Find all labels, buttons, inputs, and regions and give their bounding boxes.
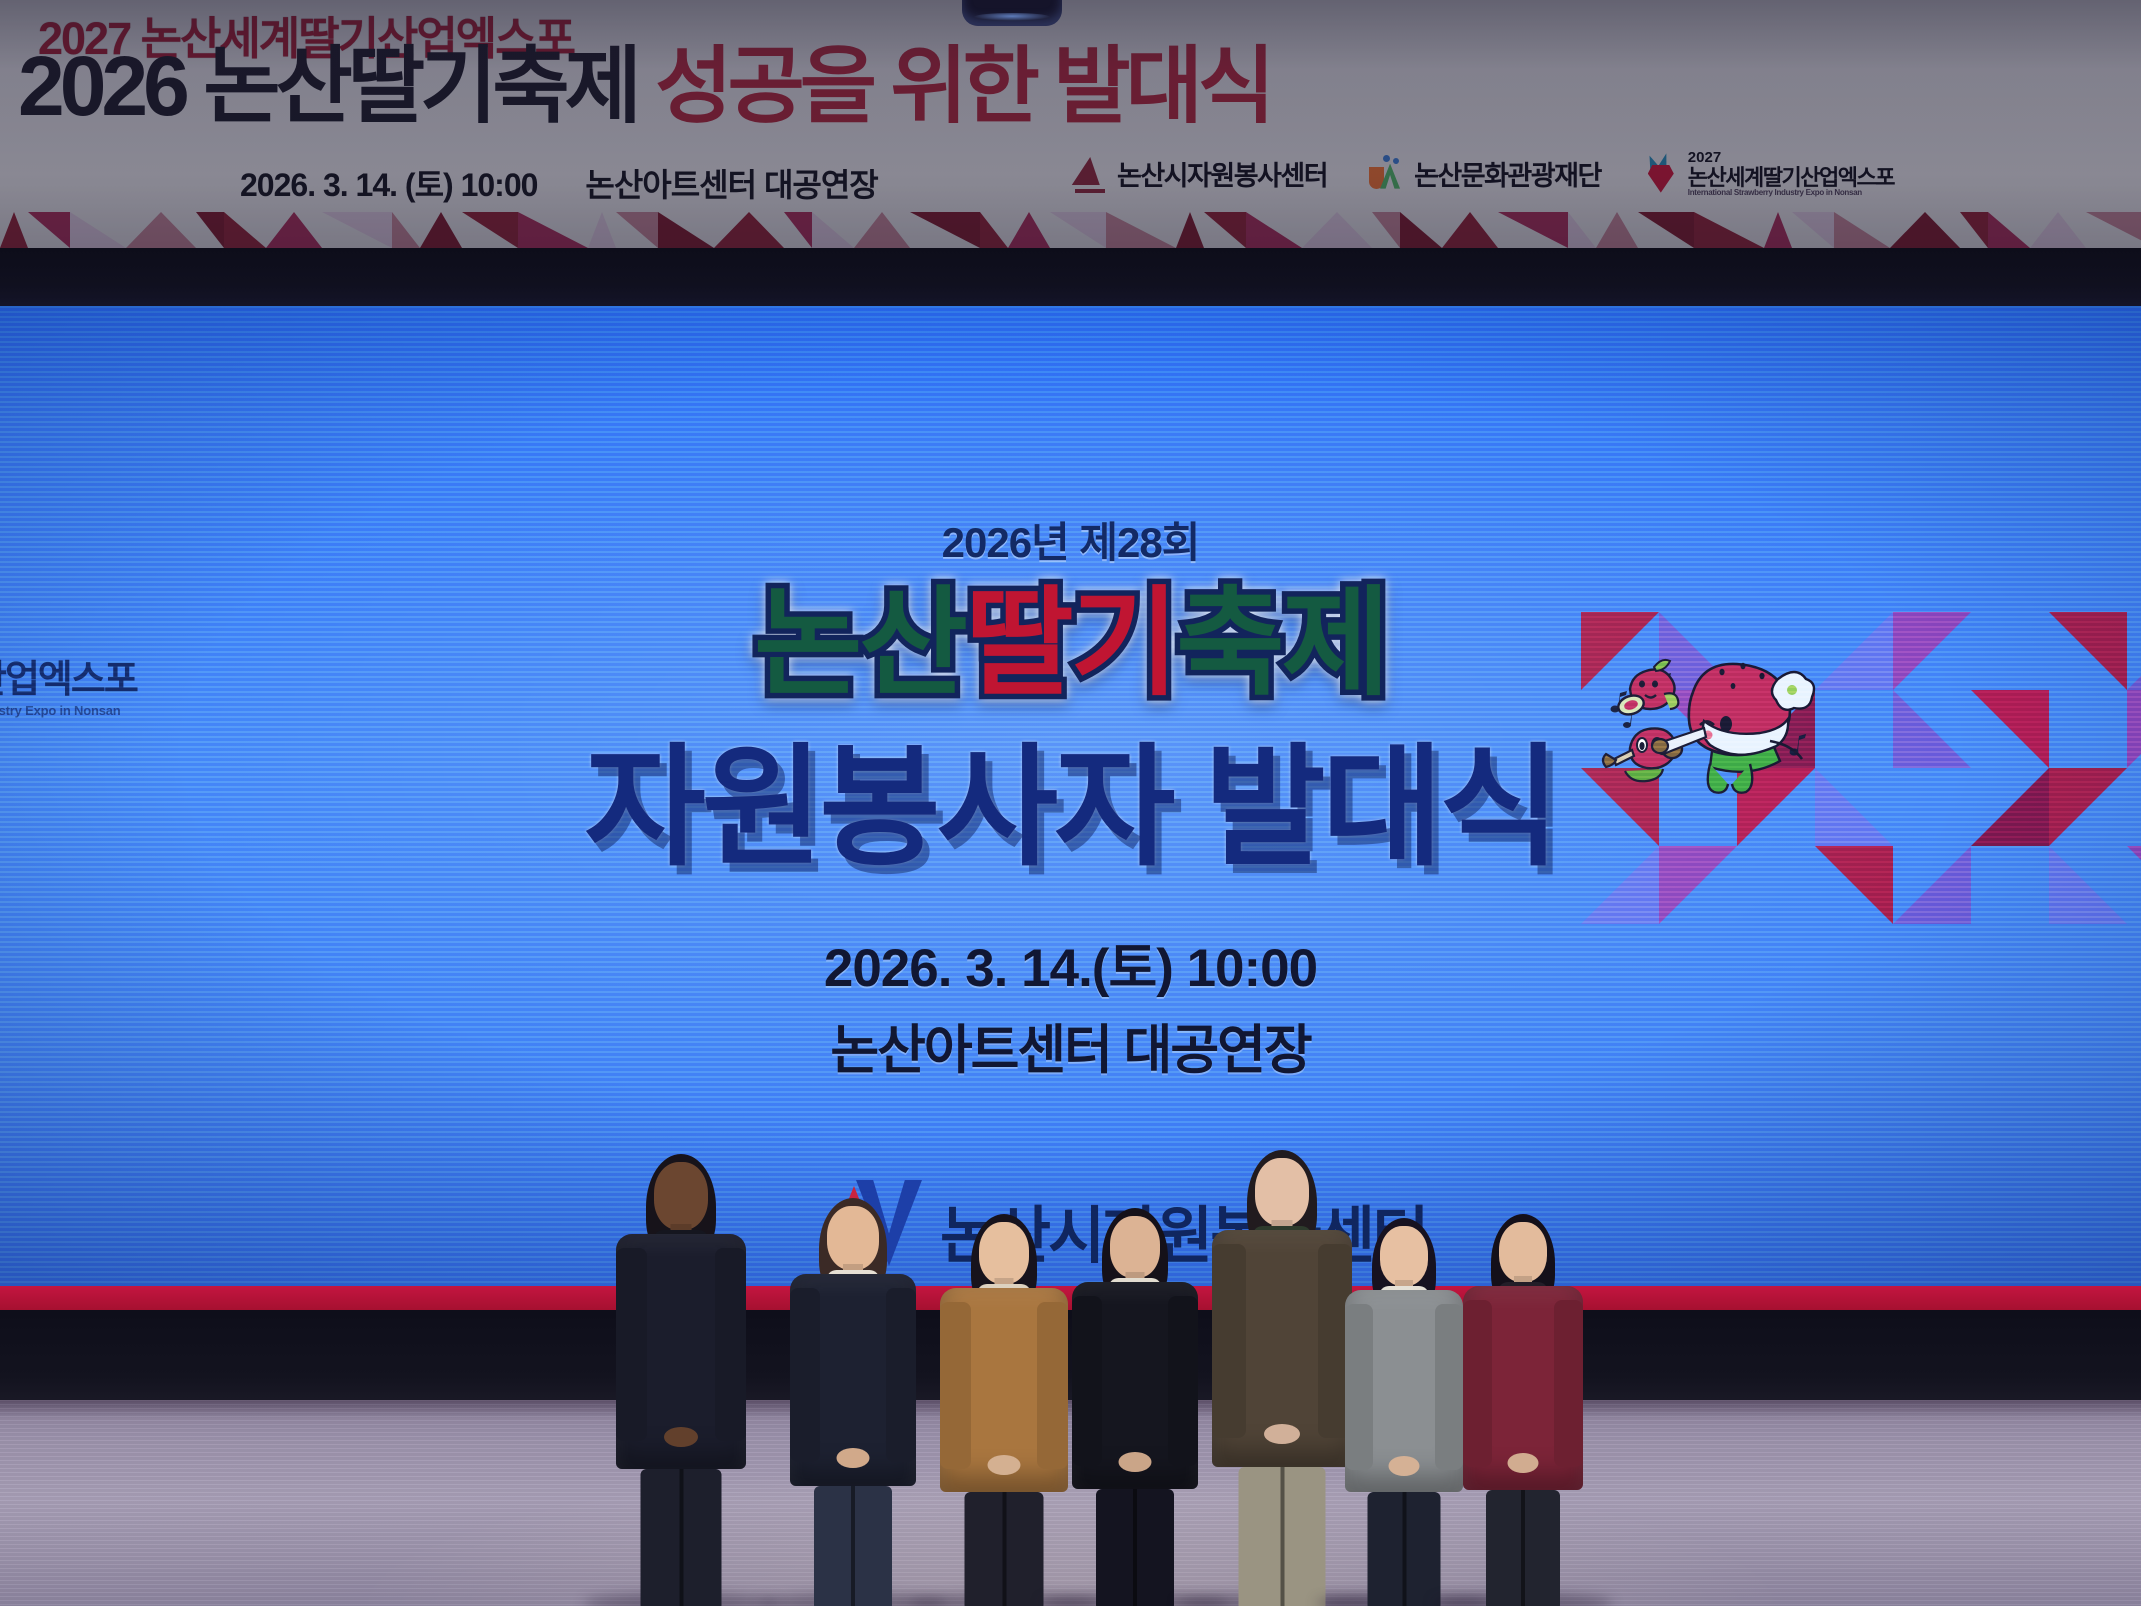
- person-figure: [616, 1154, 746, 1606]
- person-head: [1499, 1222, 1547, 1282]
- person-legs: [1096, 1489, 1174, 1606]
- logo-expo-year: 2027: [1688, 150, 1894, 166]
- banner-datetime-venue: 2026. 3. 14. (토) 10:00논산아트센터 대공연장: [240, 160, 878, 206]
- person-head: [1255, 1158, 1309, 1226]
- event-photo: 2027 논산세계딸기산업엑스포 2026 논산딸기축제 성공을 위한 발대식 …: [0, 0, 2141, 1606]
- banner-venue: 논산아트센터 대공연장: [585, 167, 877, 203]
- banner-title-red: 성공을 위한 발대식: [637, 39, 1270, 133]
- person-legs: [965, 1492, 1044, 1606]
- volunteer-center-mark-icon: [1072, 155, 1108, 193]
- person-figure: [1345, 1218, 1463, 1606]
- person-head: [1380, 1226, 1428, 1286]
- banner-triangle-strip: [0, 212, 2141, 248]
- person-figure: [790, 1198, 916, 1606]
- person-head: [827, 1206, 879, 1270]
- person-right-arm: [1554, 1300, 1583, 1467]
- logo-culture-foundation: 논산문화관광재단: [1369, 154, 1601, 193]
- person-hands: [664, 1427, 698, 1447]
- screen-subtitle: 2026년 제28회: [0, 509, 2141, 570]
- person-legs: [1239, 1467, 1326, 1606]
- screen-event-title: 자원봉사자 발대식: [0, 742, 2141, 874]
- wall-gap: [0, 248, 2141, 310]
- person-left-arm: [790, 1288, 820, 1462]
- title-part-nonsan: 논산: [754, 578, 965, 710]
- banner-main-title: 2026 논산딸기축제 성공을 위한 발대식: [18, 44, 1270, 128]
- person-head: [654, 1162, 708, 1230]
- person-left-arm: [1345, 1304, 1373, 1470]
- person-head: [1110, 1216, 1160, 1278]
- person-legs: [814, 1486, 892, 1606]
- person-right-arm: [886, 1288, 916, 1462]
- person-hands: [1508, 1453, 1539, 1473]
- person-right-arm: [1435, 1304, 1463, 1470]
- overhead-banner: 2027 논산세계딸기산업엑스포 2026 논산딸기축제 성공을 위한 발대식 …: [0, 0, 2141, 248]
- logo-expo-subtitle: International Strawberry Industry Expo i…: [1688, 189, 1894, 197]
- person-left-arm: [616, 1248, 647, 1441]
- screen-venue: 논산아트센터 대공연장: [0, 1008, 2141, 1084]
- logo-culture-foundation-label: 논산문화관광재단: [1414, 154, 1601, 193]
- logo-expo-label: 논산세계딸기산업엑스포: [1688, 166, 1894, 189]
- person-hands: [988, 1455, 1021, 1475]
- person-left-arm: [1463, 1300, 1492, 1467]
- screen-datetime: 2026. 3. 14.(토) 10:00: [0, 926, 2141, 1002]
- screen-title-block: 2026년 제28회 논산딸기축제 자원봉사자 발대식 2026. 3. 14.…: [0, 306, 2141, 1084]
- person-figure: [1212, 1150, 1352, 1606]
- person-hands: [1389, 1456, 1420, 1476]
- person-hands: [837, 1448, 870, 1468]
- stage-spotlight-fixture: [962, 0, 1062, 26]
- person-figure: [1072, 1208, 1198, 1606]
- logo-volunteer-center-label: 논산시자원봉사센터: [1117, 154, 1327, 193]
- person-figure: [1463, 1214, 1583, 1606]
- volunteer-group: [0, 1140, 2141, 1606]
- person-right-arm: [1037, 1302, 1068, 1469]
- culture-foundation-mark-icon: [1369, 155, 1405, 193]
- banner-title-dark: 2026 논산딸기축제: [18, 39, 637, 133]
- person-head: [979, 1222, 1029, 1284]
- title-part-festival: 축제: [1176, 578, 1387, 710]
- logo-expo-2027: 2027 논산세계딸기산업엑스포 International Strawberr…: [1643, 150, 1894, 197]
- banner-logo-row: 논산시자원봉사센터 논산문화관광재단 2027 논산세계딸기산업엑스포 Inte…: [1072, 150, 1894, 197]
- person-left-arm: [940, 1302, 971, 1469]
- banner-datetime: 2026. 3. 14. (토) 10:00: [240, 167, 537, 203]
- expo-strawberry-mark-icon: [1643, 155, 1679, 193]
- screen-festival-title: 논산딸기축제: [0, 578, 2141, 710]
- person-legs: [641, 1469, 722, 1606]
- person-legs: [1368, 1492, 1441, 1606]
- person-figure: [940, 1214, 1068, 1606]
- person-left-arm: [1072, 1296, 1102, 1466]
- person-right-arm: [715, 1248, 746, 1441]
- person-hands: [1264, 1424, 1300, 1444]
- person-left-arm: [1212, 1244, 1246, 1438]
- title-part-strawberry: 딸기: [965, 578, 1176, 710]
- person-hands: [1119, 1452, 1152, 1472]
- logo-volunteer-center: 논산시자원봉사센터: [1072, 154, 1327, 193]
- person-right-arm: [1168, 1296, 1198, 1466]
- person-legs: [1486, 1490, 1560, 1606]
